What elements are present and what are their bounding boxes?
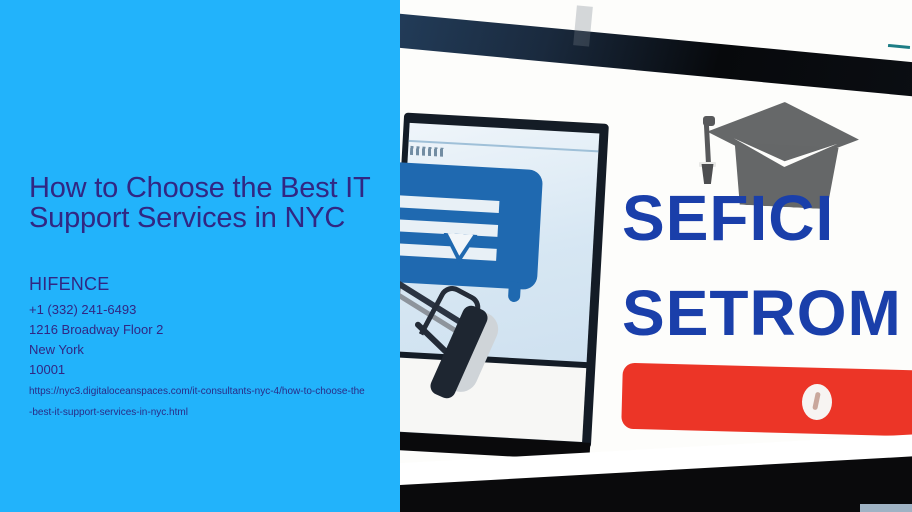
bubble-text-line bbox=[400, 194, 499, 213]
hero-photo: SEFICI SETROM bbox=[400, 0, 912, 512]
brand-name: HIFENCE bbox=[29, 274, 109, 294]
page-title: How to Choose the Best IT Support Servic… bbox=[29, 173, 389, 233]
contact-city: New York bbox=[29, 340, 389, 360]
speech-bubble-icon bbox=[400, 161, 543, 290]
eyeglasses-object bbox=[400, 282, 518, 414]
contact-zipcode: 10001 bbox=[29, 360, 389, 380]
bubble-text-line bbox=[400, 242, 497, 261]
promo-card: How to Choose the Best IT Support Servic… bbox=[0, 0, 912, 512]
info-panel: How to Choose the Best IT Support Servic… bbox=[0, 0, 400, 512]
contact-street: 1216 Broadway Floor 2 bbox=[29, 320, 389, 340]
source-url-link[interactable]: https://nyc3.digitaloceanspaces.com/it-c… bbox=[29, 381, 365, 423]
bottom-edge-highlight bbox=[860, 504, 912, 512]
red-accent-bar bbox=[621, 363, 912, 438]
contact-phone: +1 (332) 241-6493 bbox=[29, 300, 389, 320]
headline-line-2: SETROM bbox=[622, 281, 902, 345]
monitor-glyph-text bbox=[410, 146, 444, 157]
cap-tassel bbox=[699, 164, 716, 184]
headline-line-1: SEFICI bbox=[622, 186, 834, 250]
contact-list: +1 (332) 241-6493 1216 Broadway Floor 2 … bbox=[29, 300, 389, 380]
